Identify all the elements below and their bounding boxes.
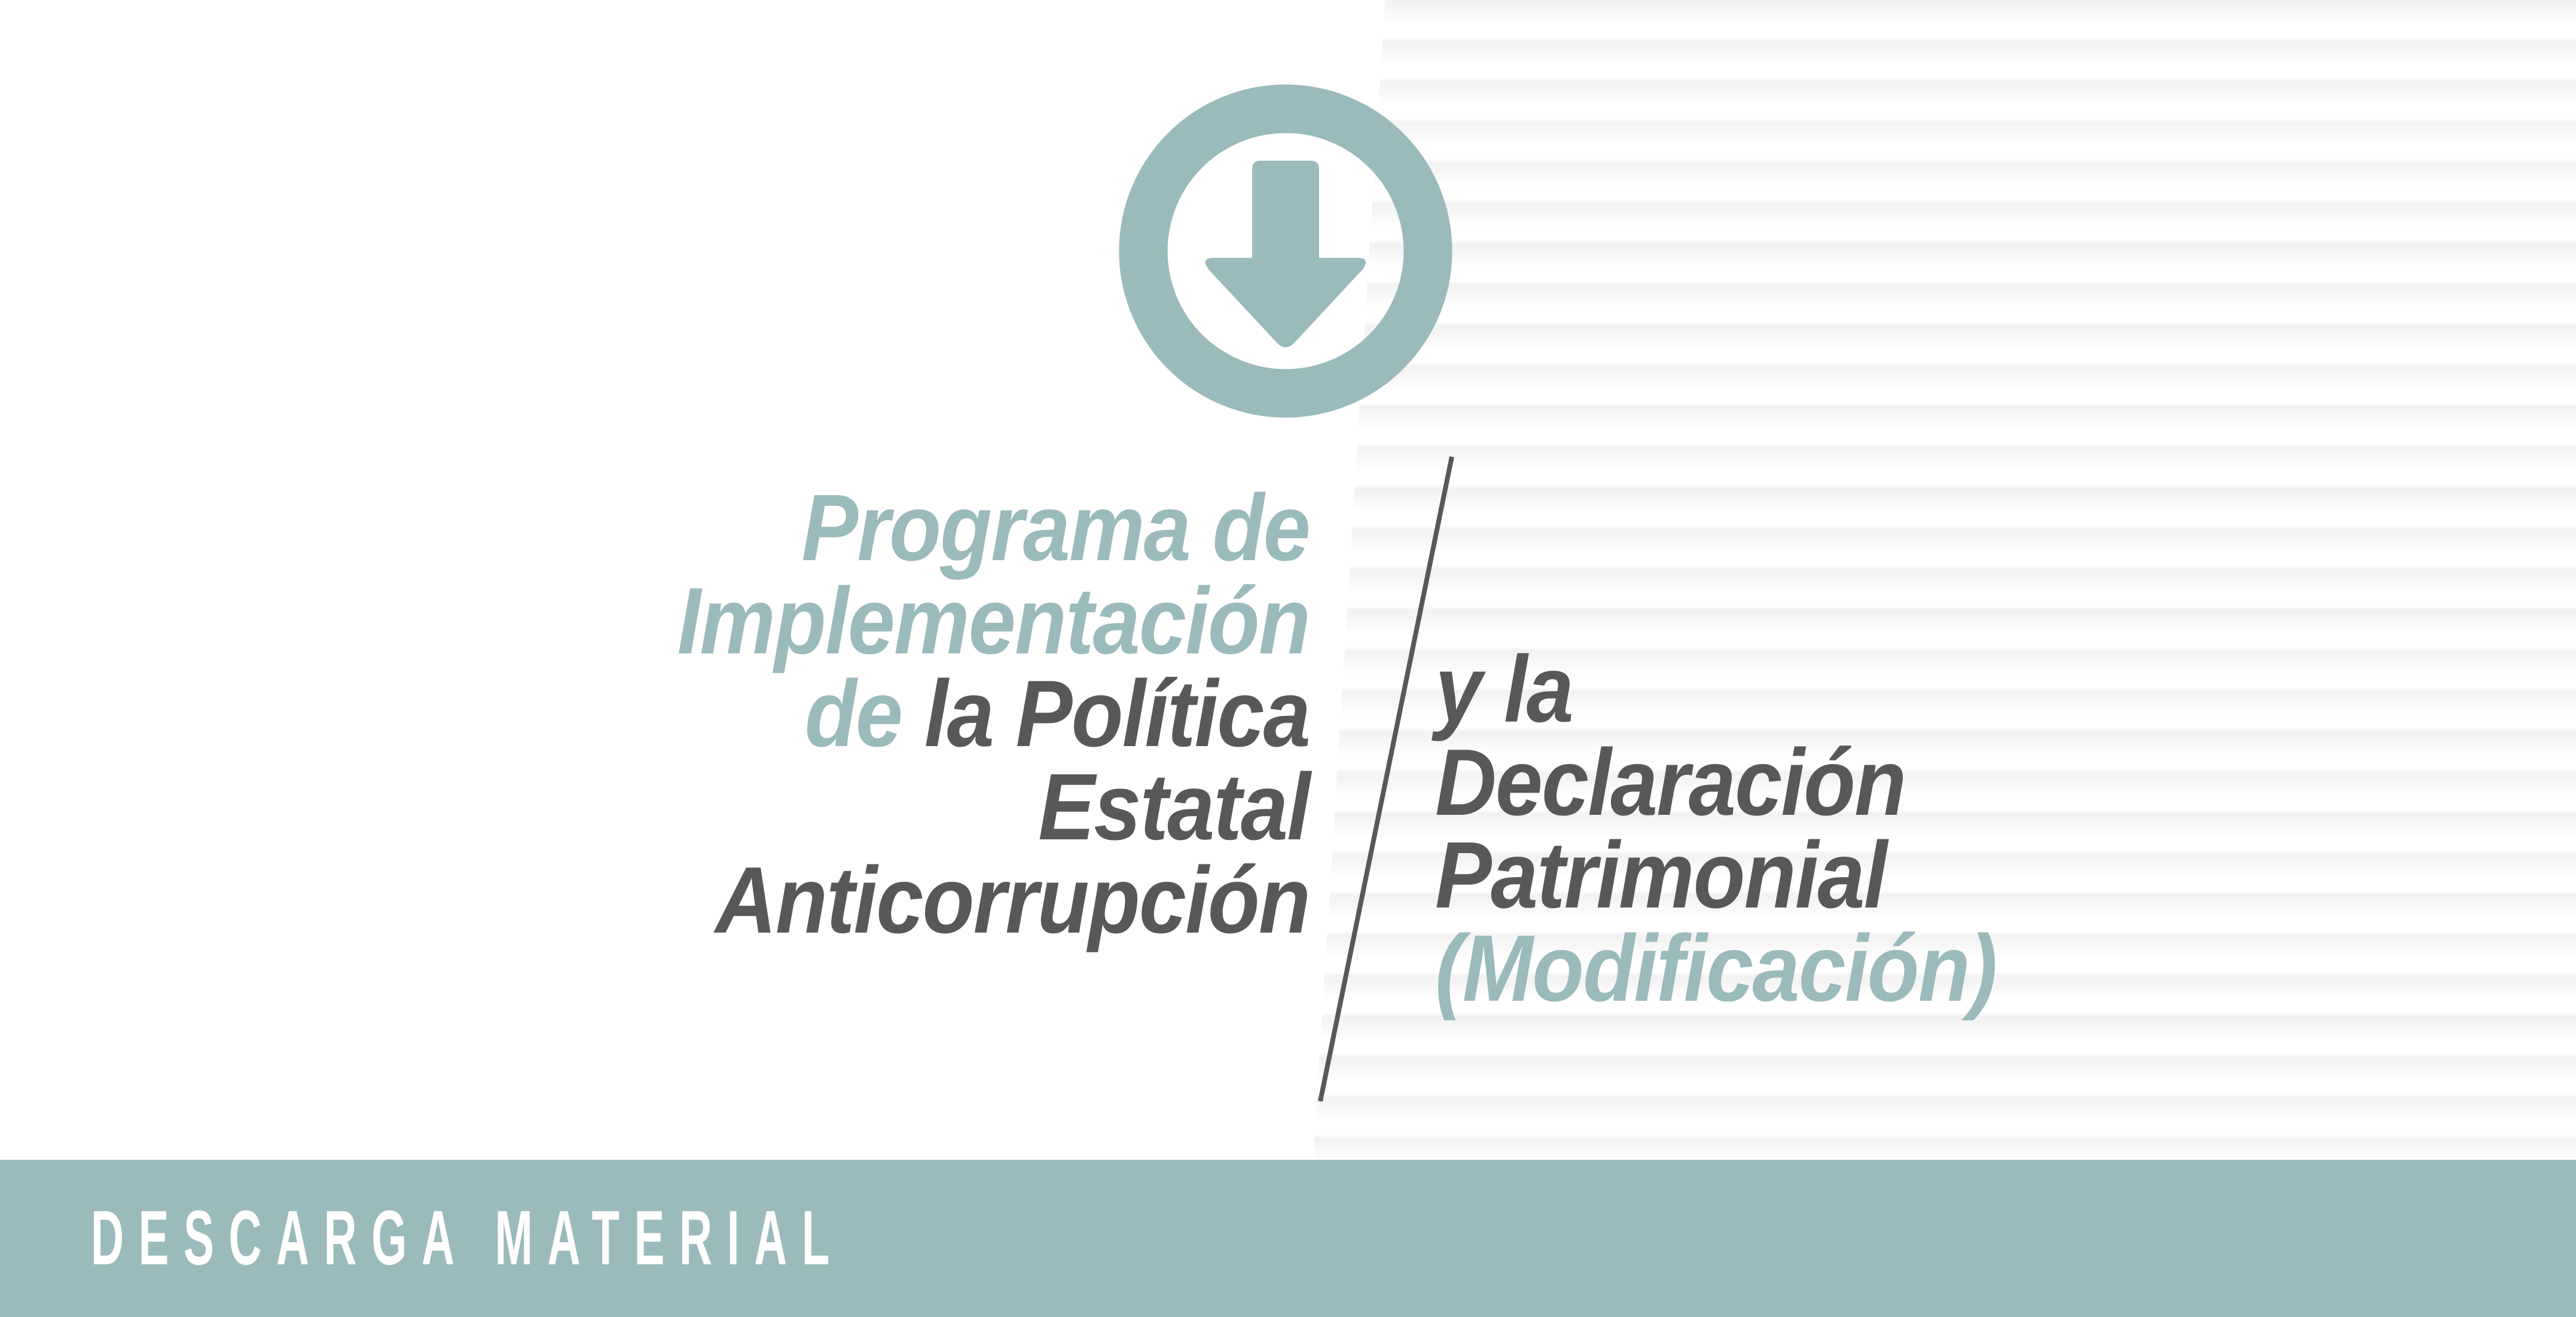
headline-left-column: Programa de Implementación de la Polític… [395, 482, 1310, 947]
headline-line-patrimonial: Patrimonial [1435, 829, 2404, 922]
headline-line-modificacion: (Modificación) [1435, 922, 2404, 1016]
download-cta-label: DESCARGA MATERIAL [91, 1194, 844, 1283]
download-cta-bar[interactable]: DESCARGA MATERIAL [0, 1160, 2576, 1317]
banner-canvas: Programa de Implementación de la Polític… [0, 0, 2576, 1317]
headline-line-declaracion: Declaración [1435, 737, 2404, 830]
headline-line-de-la-politica: de la Política [395, 668, 1310, 761]
headline-words-la-politica: la Política [924, 661, 1310, 766]
headline-right-column: y la Declaración Patrimonial (Modificaci… [1435, 643, 2404, 1016]
headline-line-y-la: y la [1435, 643, 2404, 737]
headline-line-implementacion: Implementación [395, 575, 1310, 668]
headline-word-de: de [805, 661, 924, 766]
headline-line-estatal: Estatal [395, 761, 1310, 854]
headline-line-anticorrupcion: Anticorrupción [395, 854, 1310, 948]
download-circle-icon[interactable] [1118, 84, 1453, 418]
headline-line-programa-de: Programa de [395, 482, 1310, 575]
